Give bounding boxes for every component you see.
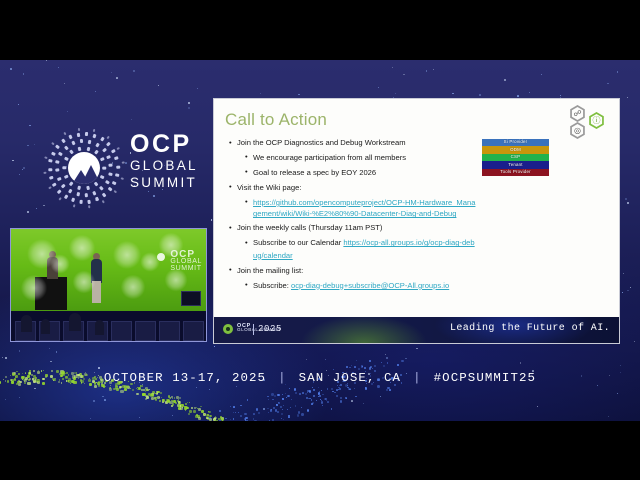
stage-backdrop: OCP GLOBAL SUMMIT (11, 229, 207, 311)
wash-particle (281, 418, 283, 420)
background-speck (504, 79, 506, 81)
wash-particle (282, 398, 283, 399)
logo-ring-dot (102, 148, 107, 153)
wash-particle (282, 398, 284, 400)
wash-particle (286, 397, 287, 398)
wash-particle (272, 399, 273, 400)
audience-seat (183, 321, 204, 341)
background-speck (622, 292, 623, 293)
stage-burst-graphic (157, 231, 185, 259)
logo-wordmark: OCP GLOBAL SUMMIT (130, 132, 226, 191)
wash-particle (230, 406, 231, 407)
wash-particle (334, 392, 335, 393)
background-speck (12, 160, 14, 162)
wash-particle (307, 410, 308, 411)
background-speck (392, 67, 393, 68)
background-speck (34, 144, 35, 145)
logo-line-global: GLOBAL (130, 157, 226, 174)
wash-particle (276, 404, 277, 405)
banner-hashtag: #OCPSUMMIT25 (434, 371, 536, 385)
stack-row-tenant: Tenant (482, 161, 549, 168)
wash-particle (331, 408, 332, 409)
logo-ring-dot (55, 160, 60, 164)
logo-ring-dot (69, 181, 73, 186)
ocp-sunburst-icon (44, 128, 124, 208)
wash-particle (321, 401, 323, 403)
ocp-global-summit-logo: OCP GLOBAL SUMMIT (44, 126, 200, 210)
wash-particle (319, 391, 320, 392)
stage-burst-graphic (139, 251, 161, 273)
wash-particle (280, 406, 282, 408)
wash-particle (318, 394, 319, 395)
stage-burst-graphic (67, 233, 97, 263)
background-speck (64, 83, 65, 84)
stack-row-csp: CSP (482, 154, 549, 161)
wash-particle (345, 397, 346, 398)
swirl-particle (146, 396, 148, 398)
background-speck (260, 93, 261, 94)
background-speck (23, 167, 25, 169)
logo-ring-dot (68, 189, 73, 194)
wash-particle (253, 413, 255, 415)
speaker-video-thumbnail[interactable]: OCP GLOBAL SUMMIT (10, 228, 207, 342)
footer-ocp-icon (223, 324, 233, 334)
wash-particle (268, 399, 269, 400)
wash-particle (281, 413, 283, 415)
logo-ring-dot (93, 190, 97, 195)
background-speck (158, 85, 159, 86)
audience-member (95, 320, 104, 335)
wash-particle (285, 393, 286, 394)
logo-ring-dot (49, 176, 53, 180)
wash-particle (290, 407, 291, 408)
wash-particle (298, 411, 300, 413)
logo-ring-dot (78, 185, 81, 189)
presentation-slide[interactable]: Call to Action ☍ ⓘ ◎ Join the OCP Diagno… (213, 98, 620, 344)
wash-particle (321, 390, 322, 391)
audience-member (41, 319, 50, 334)
background-speck (403, 74, 404, 75)
logo-ring-dot (55, 144, 60, 148)
logo-ring-dot (71, 198, 75, 203)
wash-particle (308, 398, 309, 399)
wash-particle (340, 397, 342, 399)
wash-particle (233, 406, 235, 408)
wash-particle (340, 400, 343, 403)
bullet-subscribe: Subscribe: ocp-diag-debug+subscribe@OCP-… (244, 280, 478, 293)
wash-particle (302, 392, 304, 394)
logo-ring-dot (99, 186, 104, 191)
background-speck (433, 69, 434, 70)
background-speck (36, 208, 37, 209)
logo-ring-dot (77, 132, 80, 136)
stage-burst-graphic (19, 273, 49, 303)
audience-member (21, 315, 32, 332)
event-banner: OCTOBER 13-17, 2025 | SAN JOSE, CA | #OC… (0, 366, 640, 390)
logo-ring-dot (69, 150, 73, 155)
background-speck (634, 341, 635, 342)
background-speck (116, 77, 118, 79)
background-speck (541, 74, 542, 75)
swirl-particle (145, 398, 148, 401)
wash-particle (316, 400, 317, 401)
wash-particle (309, 390, 312, 393)
wash-particle (325, 398, 327, 400)
wash-particle (307, 390, 309, 392)
background-speck (19, 350, 21, 352)
wash-particle (306, 397, 308, 399)
wash-particle (336, 395, 338, 397)
banner-dates: OCTOBER 13-17, 2025 (104, 371, 266, 385)
background-speck (405, 358, 407, 360)
wash-particle (305, 393, 307, 395)
wash-particle (355, 396, 356, 397)
wash-particle (267, 396, 268, 397)
background-speck (23, 73, 25, 75)
background-speck (630, 287, 631, 288)
wash-particle (244, 418, 246, 420)
background-speck (188, 102, 190, 104)
swirl-particle (142, 393, 145, 396)
wash-particle (276, 404, 277, 405)
background-speck (95, 91, 96, 92)
stack-row-tools-provider: Tools Provider (482, 169, 549, 176)
wash-particle (253, 418, 255, 420)
background-speck (27, 211, 29, 213)
logo-ring-dot (111, 149, 116, 153)
wiki-link-item[interactable]: https://github.com/opencomputeproject/OC… (244, 197, 478, 220)
logo-ring-dot (58, 197, 62, 201)
footer-divider (253, 324, 254, 335)
logo-ring-dot (102, 167, 106, 170)
logo-ring-dot (63, 132, 67, 136)
logo-ring-dot (62, 167, 66, 170)
info-hex-icon[interactable]: ⓘ (588, 112, 605, 129)
swirl-particle (145, 395, 148, 398)
stage-burst-graphic (71, 269, 97, 295)
wiki-url[interactable]: https://github.com/opencomputeproject/OC… (253, 198, 475, 218)
slide-title: Call to Action (225, 110, 327, 130)
subscribe-label: Subscribe: (253, 281, 291, 290)
wash-particle (288, 395, 290, 397)
logo-ring-dot (87, 185, 90, 189)
wash-particle (301, 407, 302, 408)
background-speck (5, 357, 7, 359)
wash-particle (282, 409, 283, 410)
logo-ring-dot (93, 129, 96, 133)
logo-line-ocp: OCP (130, 132, 226, 157)
logo-ring-dot (64, 157, 69, 161)
stage-burst-graphic (163, 267, 189, 293)
logo-ring-dot (113, 190, 117, 194)
background-speck (529, 92, 530, 93)
wash-particle (327, 401, 329, 403)
background-speck (197, 88, 198, 89)
logo-ring-dot (108, 172, 113, 176)
wash-particle (311, 403, 313, 405)
wash-particle (301, 413, 304, 416)
background-speck (214, 346, 215, 347)
wash-particle (307, 409, 309, 411)
wash-particle (297, 414, 299, 416)
wash-particle (307, 392, 308, 393)
wash-particle (311, 399, 313, 401)
logo-ring-dot (85, 193, 88, 197)
background-speck (22, 169, 23, 170)
wash-particle (240, 415, 242, 417)
wash-particle (247, 399, 249, 401)
logo-ring-dot (121, 162, 125, 165)
swirl-particle (142, 393, 145, 396)
background-speck (395, 93, 396, 94)
background-speck (385, 354, 386, 355)
wash-particle (256, 408, 258, 410)
wash-particle (282, 394, 283, 395)
wash-particle (288, 417, 289, 418)
logo-ring-dot (76, 192, 80, 197)
wash-particle (244, 413, 246, 415)
audience-seat (111, 321, 132, 341)
footer-tagline: Leading the Future of AI. (450, 323, 610, 334)
swirl-particle (143, 393, 144, 394)
wash-particle (324, 398, 326, 400)
stack-row-odm: ODM (482, 146, 549, 153)
logo-ring-dot (48, 186, 52, 190)
background-speck (479, 94, 481, 96)
stage-burst-graphic (119, 273, 147, 301)
subscribe-email[interactable]: ocp-diag-debug+subscribe@OCP-All.groups.… (291, 281, 449, 290)
wash-particle (313, 395, 315, 397)
wash-particle (274, 395, 276, 397)
background-speck (188, 107, 190, 109)
banner-location: SAN JOSE, CA (299, 371, 401, 385)
logo-ring-dot (87, 146, 90, 150)
share-hex-icon[interactable]: ☍ (569, 105, 586, 122)
wash-particle (240, 405, 242, 407)
background-speck (627, 202, 629, 204)
logo-ring-dot (78, 128, 81, 132)
slide-footer: OCP GLOBAL SUMMIT 2025 Leading the Futur… (214, 317, 619, 343)
background-speck (27, 145, 28, 146)
background-speck (378, 87, 379, 88)
bullet-spec-eoy: Goal to release a spec by EOY 2026 (244, 167, 478, 180)
wash-particle (267, 408, 269, 410)
wash-particle (295, 392, 297, 394)
logo-ring-dot (52, 183, 57, 187)
logo-ring-dot (88, 139, 92, 144)
logo-ring-dot (108, 187, 113, 191)
logo-ring-dot (100, 157, 105, 161)
stakeholder-stack-diagram: Si ProviderODMCSPTenantTools Provider (482, 139, 549, 176)
logo-ring-dot (80, 200, 83, 204)
bullet-workstream: Join the OCP Diagnostics and Debug Works… (228, 137, 478, 150)
logo-ring-dot (69, 134, 73, 139)
logo-ring-dot (120, 177, 124, 180)
wash-particle (326, 400, 327, 401)
wash-particle (278, 402, 280, 404)
letterbox-top (0, 0, 640, 60)
background-speck (58, 67, 59, 68)
audience-area (11, 311, 207, 342)
logo-ring-dot (106, 142, 111, 147)
background-speck (46, 60, 47, 61)
logo-ring-dot (100, 175, 105, 179)
wash-particle (319, 395, 321, 397)
logo-ring-dot (58, 152, 63, 157)
wash-particle (283, 419, 284, 420)
bullet-calendar: Subscribe to our Calendar https://ocp-al… (244, 237, 478, 262)
background-speck (452, 93, 454, 95)
wash-particle (273, 407, 275, 409)
swirl-particle (145, 390, 146, 391)
stack-row-si-provider: Si Provider (482, 139, 549, 146)
background-speck (627, 290, 628, 291)
slide-badge-group: ☍ ⓘ ◎ (569, 105, 613, 141)
logo-ring-dot (85, 132, 88, 136)
logo-ring-dot (55, 169, 59, 172)
letterbox-bottom (0, 421, 640, 480)
logo-ring-dot (95, 197, 99, 202)
footer-year: 2025 (258, 324, 282, 334)
wash-particle (271, 409, 272, 410)
background-speck (426, 70, 427, 71)
wash-particle (268, 412, 269, 413)
logo-ring-dot (95, 142, 100, 147)
bullet-participation: We encourage participation from all memb… (244, 152, 478, 165)
logo-ring-dot (106, 135, 110, 139)
background-speck (520, 362, 522, 364)
background-speck (2, 357, 3, 358)
background-speck (56, 351, 57, 352)
logo-ring-dot (116, 147, 120, 151)
background-speck (617, 393, 618, 394)
bullet-wiki-page: Visit the Wiki page: (228, 182, 478, 195)
wash-particle (233, 412, 234, 413)
wash-particle (235, 412, 236, 413)
background-speck (537, 406, 538, 407)
logo-ring-dot (102, 193, 106, 198)
wash-particle (277, 411, 279, 413)
background-speck (67, 111, 68, 112)
wash-particle (233, 418, 235, 420)
logo-ring-dot (94, 150, 98, 155)
stage-burst-graphic (111, 239, 143, 271)
background-speck (617, 71, 618, 72)
logo-ring-dot (116, 165, 120, 168)
logo-ring-dot (93, 133, 97, 138)
wash-particle (283, 405, 284, 406)
bullet-weekly-calls: Join the weekly calls (Thursday 11am PST… (228, 222, 478, 235)
background-speck (49, 348, 50, 349)
background-speck (625, 198, 627, 200)
wash-particle (277, 394, 279, 396)
wash-particle (332, 391, 334, 393)
wash-particle (238, 412, 239, 413)
wash-particle (219, 410, 221, 412)
stage-burst-graphic (49, 253, 71, 275)
wash-particle (288, 415, 290, 417)
background-speck (19, 174, 20, 175)
slide-bullet-list: Join the OCP Diagnostics and Debug Works… (228, 137, 478, 295)
wash-particle (369, 360, 371, 362)
background-speck (627, 97, 628, 98)
banner-separator-2: | (413, 371, 422, 385)
audience-seat (135, 321, 156, 341)
background-speck (29, 125, 30, 126)
audience-member (69, 313, 81, 331)
logo-ring-dot (114, 157, 118, 161)
logo-ring-dot (102, 200, 106, 204)
wash-particle (322, 405, 323, 406)
background-speck (18, 104, 19, 105)
wash-particle (287, 395, 289, 397)
logo-line-summit: SUMMIT (130, 174, 226, 191)
background-speck (416, 348, 418, 350)
mountain-icon (68, 152, 100, 184)
background-speck (10, 68, 12, 70)
swirl-particle (136, 393, 138, 395)
wash-particle (322, 394, 323, 395)
background-speck (131, 119, 132, 120)
screen-capture-frame: OCP GLOBAL SUMMIT OCP GLOBAL SUMMIT Call… (0, 0, 640, 480)
wash-particle (387, 362, 388, 363)
background-speck (111, 72, 112, 73)
logo-ring-dot (64, 194, 68, 199)
wash-particle (320, 399, 321, 400)
logo-ring-dot (64, 145, 69, 150)
logo-ring-dot (72, 204, 75, 208)
background-speck (607, 83, 608, 84)
background-speck (608, 416, 609, 417)
wash-particle (346, 398, 347, 399)
background-speck (517, 95, 519, 97)
wash-particle (275, 409, 277, 411)
logo-ring-dot (51, 152, 56, 156)
background-speck (298, 94, 299, 95)
clock-hex-icon[interactable]: ◎ (569, 122, 586, 139)
logo-ring-dot (106, 155, 111, 159)
wash-particle (271, 393, 274, 396)
logo-ring-dot (78, 146, 81, 150)
background-speck (623, 273, 624, 274)
background-speck (133, 70, 135, 72)
logo-ring-dot (61, 183, 66, 188)
wash-particle (321, 400, 322, 401)
audience-seat (159, 321, 180, 341)
wash-particle (318, 392, 320, 394)
wash-particle (258, 412, 261, 415)
logo-ring-dot (80, 139, 83, 143)
wash-particle (270, 409, 272, 411)
wash-particle (318, 396, 319, 397)
wash-particle (356, 360, 357, 361)
logo-ring-dot (44, 172, 48, 175)
wash-particle (381, 362, 382, 363)
wash-particle (245, 417, 248, 420)
wash-particle (401, 360, 404, 362)
logo-ring-dot (112, 180, 117, 184)
logo-ring-dot (71, 141, 75, 146)
banner-separator-1: | (278, 371, 287, 385)
logo-ring-dot (61, 139, 65, 144)
logo-ring-dot (109, 164, 113, 167)
wash-particle (291, 399, 292, 400)
wash-particle (230, 419, 231, 420)
logo-ring-dot (64, 175, 69, 179)
logo-ring-dot (57, 177, 62, 181)
background-speck (560, 95, 561, 96)
wash-particle (299, 393, 301, 395)
